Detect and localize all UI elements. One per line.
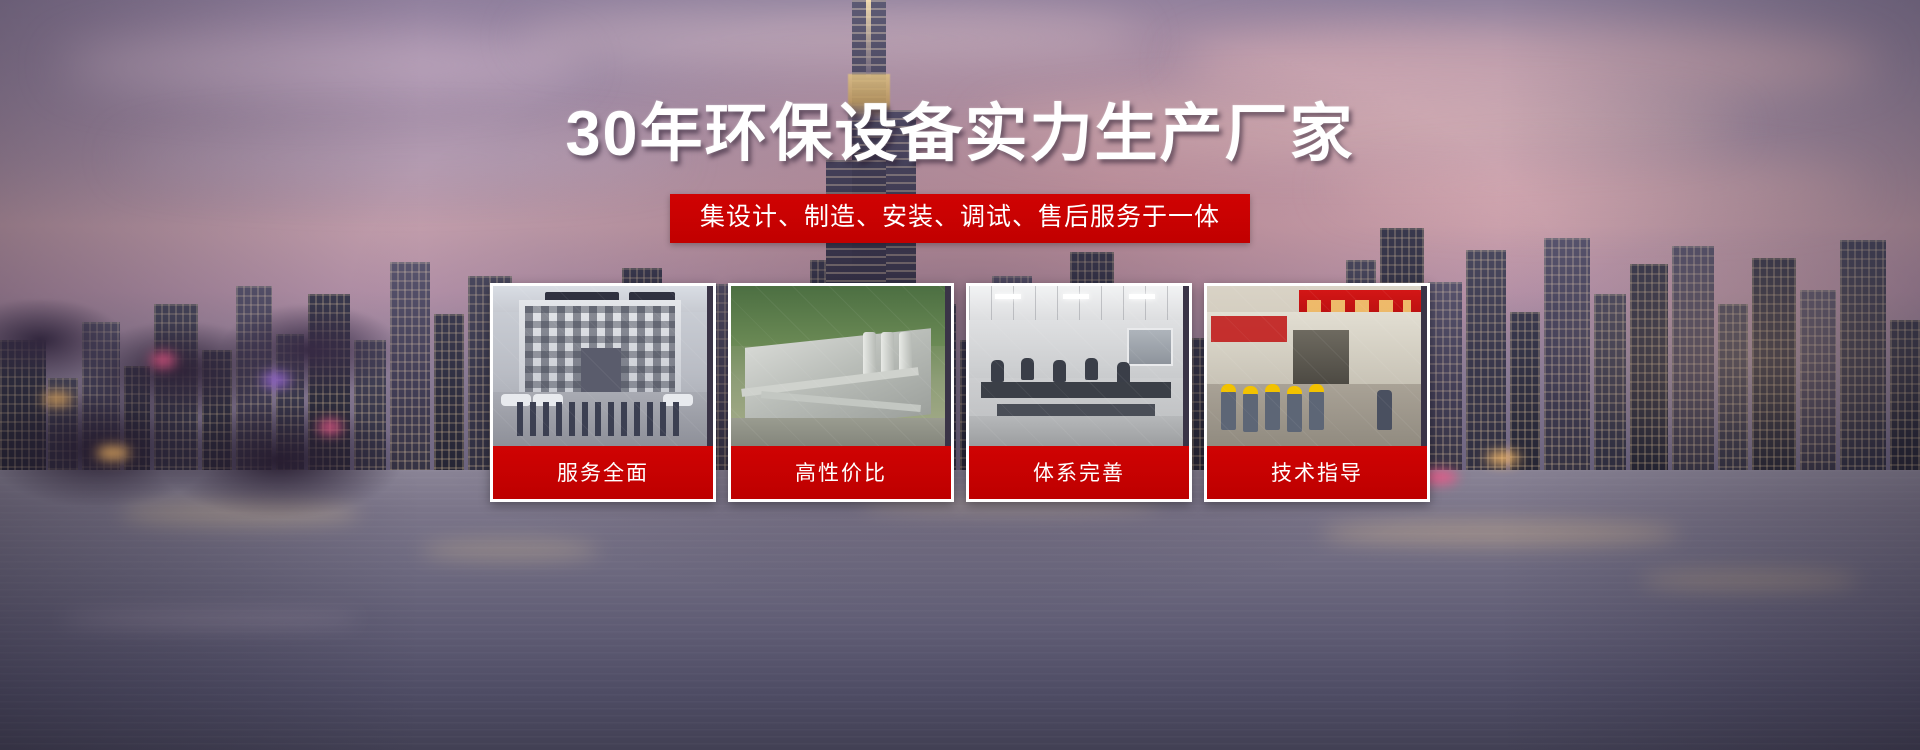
feature-card-label: 服务全面 (493, 446, 713, 499)
feature-card-label: 体系完善 (969, 446, 1189, 499)
aerial-factory-plant-photo (731, 286, 945, 446)
feature-card[interactable]: 服务全面 (490, 283, 716, 502)
company-office-building-staff-photo (493, 286, 707, 446)
hero-banner: 30年环保设备实力生产厂家 集设计、制造、安装、调试、售后服务于一体 (0, 0, 1920, 750)
banner-headline: 30年环保设备实力生产厂家 (0, 103, 1920, 166)
office-interior-team-photo (969, 286, 1183, 446)
banner-subtitle-bar: 集设计、制造、安装、调试、售后服务于一体 (670, 194, 1250, 243)
feature-card-label: 技术指导 (1207, 446, 1427, 499)
feature-card[interactable]: 体系完善 (966, 283, 1192, 502)
feature-card-label: 高性价比 (731, 446, 951, 499)
feature-card[interactable]: 高性价比 (728, 283, 954, 502)
feature-card[interactable]: 技术指导 (1204, 283, 1430, 502)
banner-content: 30年环保设备实力生产厂家 集设计、制造、安装、调试、售后服务于一体 (0, 0, 1920, 750)
workshop-workers-training-photo (1207, 286, 1421, 446)
banner-subtitle-text: 集设计、制造、安装、调试、售后服务于一体 (700, 205, 1220, 230)
feature-card-list: 服务全面 高性价比 (490, 283, 1430, 502)
